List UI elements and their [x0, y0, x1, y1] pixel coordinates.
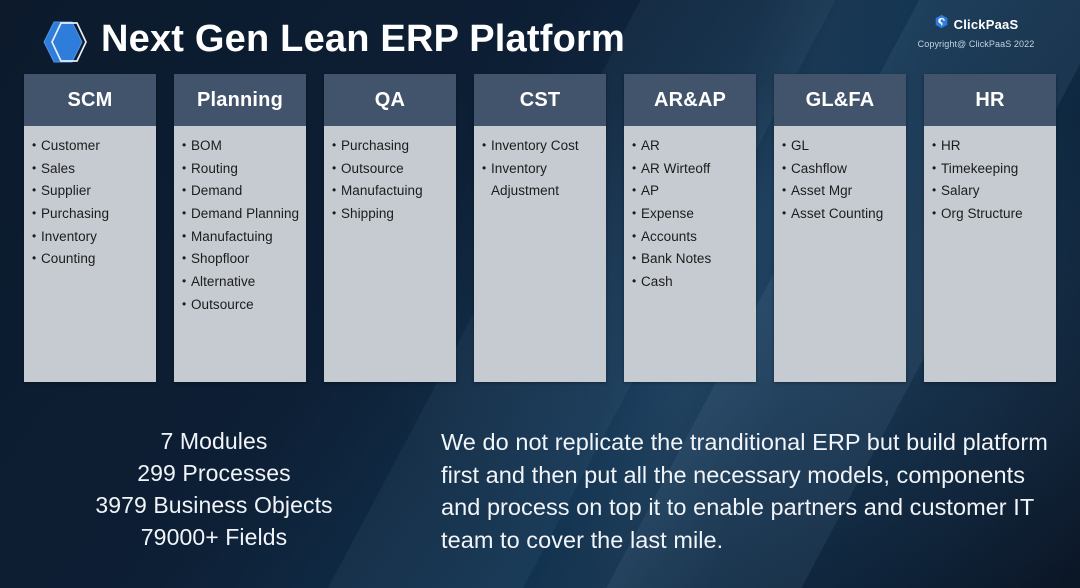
module-feature-item: Shipping — [332, 203, 450, 226]
module-feature-list: PurchasingOutsourceManufactuingShipping — [324, 126, 456, 382]
module-name: GL&FA — [806, 89, 875, 112]
module-feature-item: Bank Notes — [632, 248, 750, 271]
module-card-header: Planning — [174, 74, 306, 126]
stat-line: 299 Processes — [14, 458, 414, 490]
module-name: AR&AP — [654, 89, 726, 112]
module-feature-list: BOMRoutingDemandDemand PlanningManufactu… — [174, 126, 306, 382]
module-feature-item: AP — [632, 180, 750, 203]
page-title: Next Gen Lean ERP Platform — [101, 18, 625, 61]
module-feature-item: Inventory Adjustment — [482, 158, 600, 203]
module-feature-item: Salary — [932, 180, 1050, 203]
module-feature-item: Timekeeping — [932, 158, 1050, 181]
positioning-statement: We do not replicate the tranditional ERP… — [441, 426, 1056, 557]
module-card-header: CST — [474, 74, 606, 126]
stats-block: 7 Modules299 Processes3979 Business Obje… — [14, 426, 414, 554]
module-feature-item: Alternative — [182, 271, 300, 294]
module-feature-item: AR — [632, 135, 750, 158]
module-card-header: HR — [924, 74, 1056, 126]
module-feature-item: Outsource — [182, 294, 300, 317]
module-feature-item: Cash — [632, 271, 750, 294]
module-card-list: SCMCustomerSalesSupplierPurchasingInvent… — [24, 74, 1056, 382]
module-feature-item: Demand Planning — [182, 203, 300, 226]
module-feature-list: ARAR WirteoffAPExpenseAccountsBank Notes… — [624, 126, 756, 382]
module-feature-item: Sales — [32, 158, 150, 181]
module-feature-item: AR Wirteoff — [632, 158, 750, 181]
stat-line: 7 Modules — [14, 426, 414, 458]
module-name: HR — [975, 89, 1004, 112]
module-card-header: QA — [324, 74, 456, 126]
module-feature-item: Manufactuing — [332, 180, 450, 203]
module-feature-item: Counting — [32, 248, 150, 271]
module-name: SCM — [67, 89, 112, 112]
module-feature-item: Outsource — [332, 158, 450, 181]
module-card-ar-ap[interactable]: AR&APARAR WirteoffAPExpenseAccountsBank … — [624, 74, 756, 382]
module-feature-item: Purchasing — [32, 203, 150, 226]
module-feature-item: Accounts — [632, 226, 750, 249]
module-name: QA — [375, 89, 405, 112]
module-feature-list: HRTimekeepingSalaryOrg Structure — [924, 126, 1056, 382]
module-name: Planning — [197, 89, 283, 112]
module-feature-item: Customer — [32, 135, 150, 158]
module-card-gl-fa[interactable]: GL&FAGLCashflowAsset MgrAsset Counting — [774, 74, 906, 382]
module-feature-item: Supplier — [32, 180, 150, 203]
module-card-cst[interactable]: CSTInventory CostInventory Adjustment — [474, 74, 606, 382]
module-card-hr[interactable]: HRHRTimekeepingSalaryOrg Structure — [924, 74, 1056, 382]
module-feature-item: Org Structure — [932, 203, 1050, 226]
module-feature-item: Inventory — [32, 226, 150, 249]
module-feature-item: Asset Mgr — [782, 180, 900, 203]
module-feature-item: Manufactuing — [182, 226, 300, 249]
module-feature-list: Inventory CostInventory Adjustment — [474, 126, 606, 382]
module-card-scm[interactable]: SCMCustomerSalesSupplierPurchasingInvent… — [24, 74, 156, 382]
module-card-header: GL&FA — [774, 74, 906, 126]
module-name: CST — [520, 89, 561, 112]
module-feature-item: Cashflow — [782, 158, 900, 181]
module-card-header: AR&AP — [624, 74, 756, 126]
module-feature-item: HR — [932, 135, 1050, 158]
stat-line: 79000+ Fields — [14, 522, 414, 554]
module-feature-item: Inventory Cost — [482, 135, 600, 158]
hexagon-logo-icon — [40, 18, 90, 66]
stat-line: 3979 Business Objects — [14, 490, 414, 522]
module-feature-item: Demand — [182, 180, 300, 203]
module-card-header: SCM — [24, 74, 156, 126]
brand-name: ClickPaaS — [954, 17, 1019, 32]
module-feature-item: GL — [782, 135, 900, 158]
module-feature-item: Asset Counting — [782, 203, 900, 226]
copyright-text: Copyright@ ClickPaaS 2022 — [886, 39, 1066, 49]
module-feature-list: GLCashflowAsset MgrAsset Counting — [774, 126, 906, 382]
module-feature-item: BOM — [182, 135, 300, 158]
brand-block: ClickPaaS Copyright@ ClickPaaS 2022 — [886, 14, 1066, 49]
module-card-planning[interactable]: PlanningBOMRoutingDemandDemand PlanningM… — [174, 74, 306, 382]
module-card-qa[interactable]: QAPurchasingOutsourceManufactuingShippin… — [324, 74, 456, 382]
module-feature-item: Shopfloor — [182, 248, 300, 271]
clickpaas-hexagon-icon — [934, 14, 949, 34]
module-feature-list: CustomerSalesSupplierPurchasingInventory… — [24, 126, 156, 382]
module-feature-item: Routing — [182, 158, 300, 181]
page-header: Next Gen Lean ERP Platform ClickPaaS Cop… — [0, 0, 1080, 70]
module-feature-item: Expense — [632, 203, 750, 226]
module-feature-item: Purchasing — [332, 135, 450, 158]
